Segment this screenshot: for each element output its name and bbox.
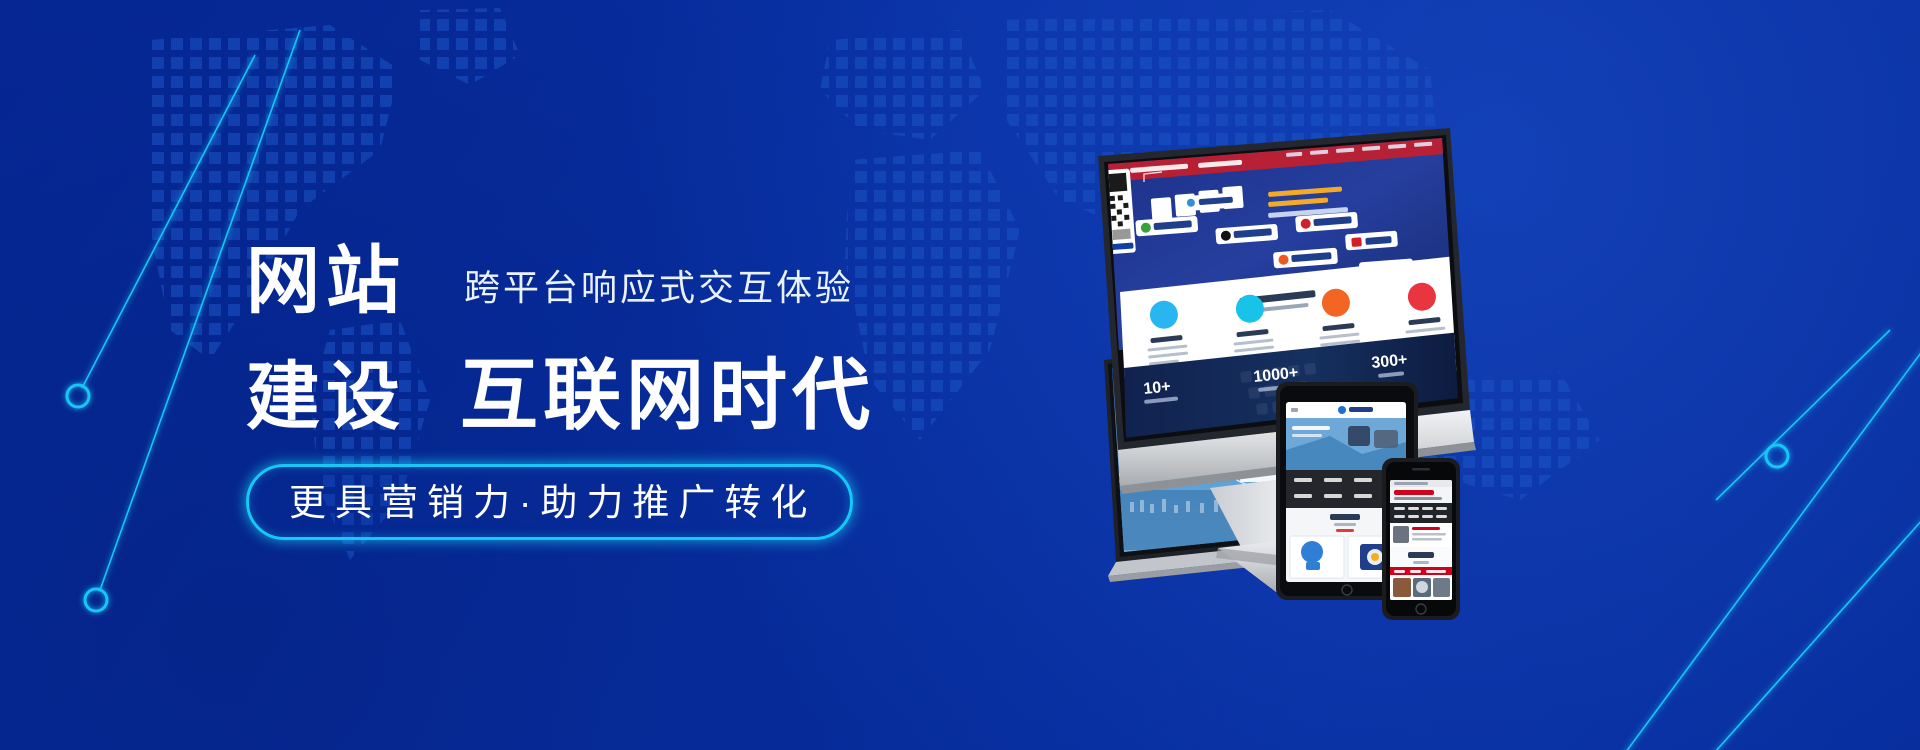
hero-banner: 网站 跨平台响应式交互体验 建设 互联网时代 更具营销力·助力推广转化 xyxy=(0,0,1920,750)
headline-row-2: 建设 互联网时代 xyxy=(246,336,1006,434)
headline-line2-accent: 互联网时代 xyxy=(460,356,875,434)
headline-line1-main: 网站 xyxy=(246,244,406,318)
tagline-text: 更具营销力·助力推广转化 xyxy=(283,484,816,521)
svg-text:10+: 10+ xyxy=(1143,378,1172,398)
phone-mockup xyxy=(1382,458,1460,620)
headline-row-1: 网站 跨平台响应式交互体验 xyxy=(246,222,1006,318)
headline-subtitle: 跨平台响应式交互体验 xyxy=(464,270,854,318)
headline-line2-main: 建设 xyxy=(246,360,406,434)
hero-copy-block: 网站 跨平台响应式交互体验 建设 互联网时代 更具营销力·助力推广转化 xyxy=(246,222,1006,540)
device-mockup-cluster: 10+ 1000+ 300+ xyxy=(1090,120,1830,640)
tagline-pill: 更具营销力·助力推广转化 xyxy=(246,464,853,540)
